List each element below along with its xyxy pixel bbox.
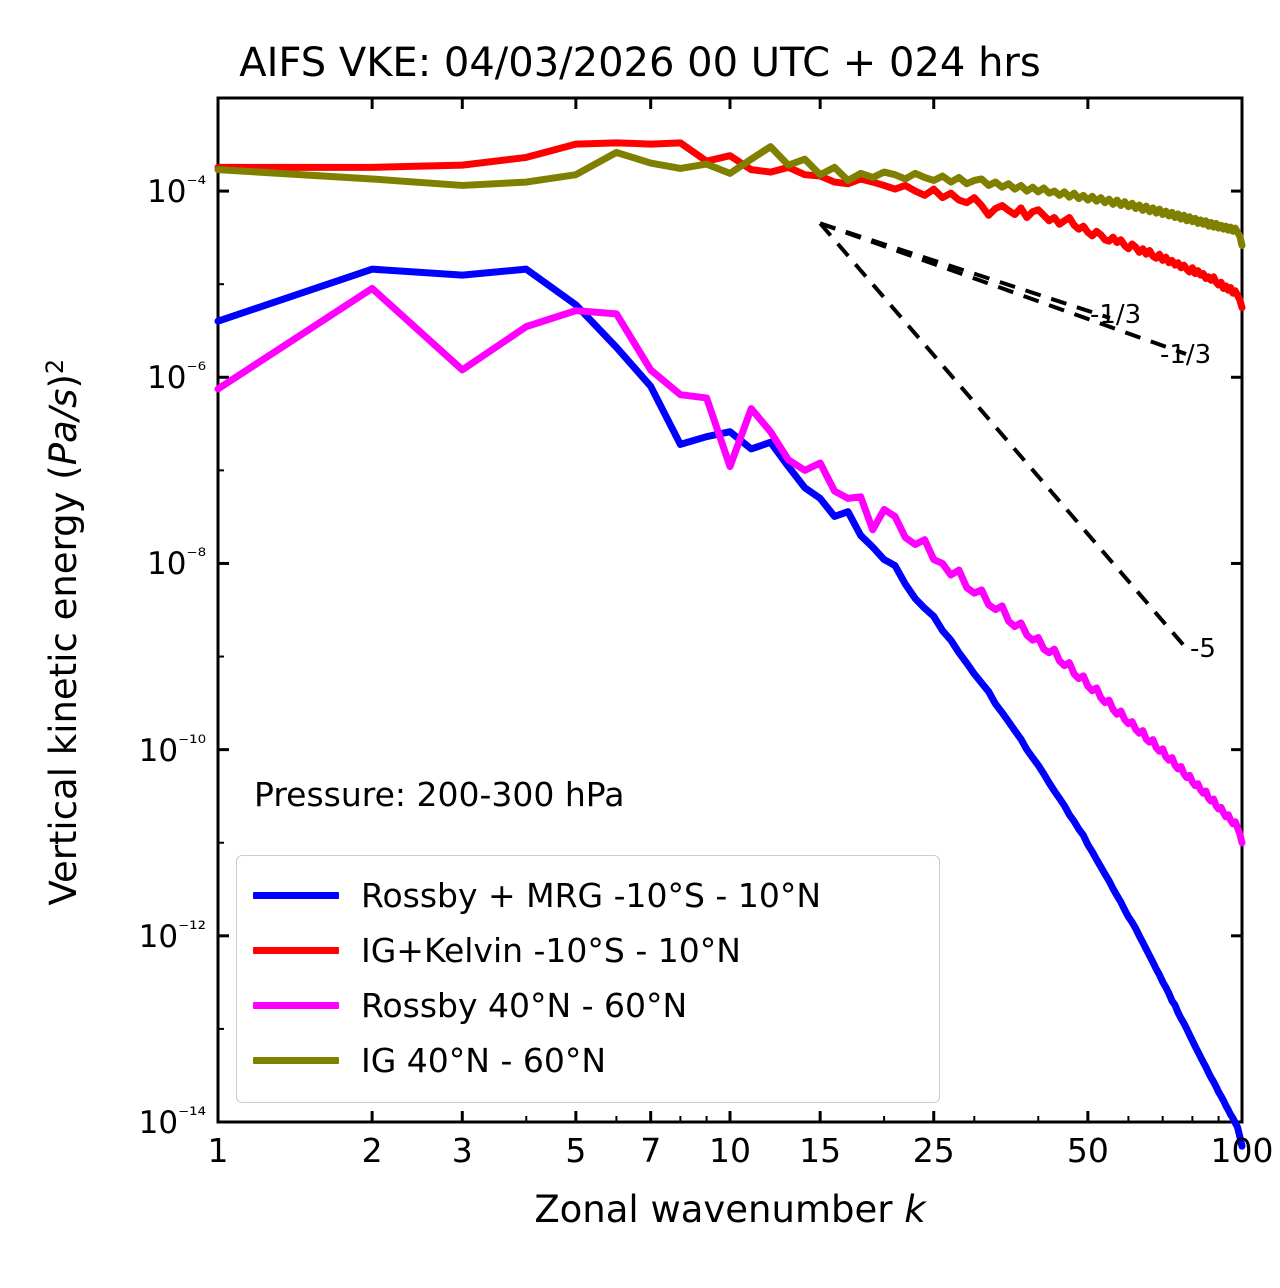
legend-item[interactable]: IG+Kelvin -10°S - 10°N (253, 923, 923, 978)
figure-root: AIFS VKE: 04/03/2026 00 UTC + 024 hrs Ve… (0, 0, 1280, 1288)
x-tick-label: 15 (799, 1131, 841, 1170)
slope-annotation-label: -1/3 (1160, 340, 1211, 370)
legend-item[interactable]: IG 40°N - 60°N (253, 1033, 923, 1088)
y-tick-label: 10⁻¹⁰ (139, 730, 206, 768)
x-tick-label: 100 (1211, 1131, 1274, 1170)
legend-item-label: Rossby 40°N - 60°N (361, 986, 687, 1025)
legend: Rossby + MRG -10°S - 10°N IG+Kelvin -10°… (236, 855, 940, 1103)
legend-item-label: IG+Kelvin -10°S - 10°N (361, 931, 741, 970)
y-tick-label: 10⁻¹⁴ (139, 1103, 206, 1141)
legend-item-label: Rossby + MRG -10°S - 10°N (361, 876, 821, 915)
x-tick-label: 1 (208, 1131, 229, 1170)
legend-color-swatch (253, 892, 339, 899)
slope-annotation-label: -5 (1190, 634, 1216, 664)
y-tick-label: 10⁻⁶ (147, 358, 206, 396)
x-tick-label: 2 (362, 1131, 383, 1170)
legend-item-label: IG 40°N - 60°N (361, 1041, 606, 1080)
x-tick-label: 10 (709, 1131, 751, 1170)
x-tick-label: 3 (452, 1131, 473, 1170)
legend-color-swatch (253, 1002, 339, 1009)
x-tick-label: 5 (565, 1131, 586, 1170)
legend-item[interactable]: Rossby 40°N - 60°N (253, 978, 923, 1033)
legend-color-swatch (253, 947, 339, 954)
y-tick-label: 10⁻⁸ (147, 544, 206, 582)
legend-color-swatch (253, 1057, 339, 1064)
slope-annotation-label: -1/3 (1090, 300, 1141, 330)
x-tick-label: 25 (913, 1131, 955, 1170)
x-tick-label: 7 (640, 1131, 661, 1170)
y-tick-label: 10⁻⁴ (147, 172, 206, 210)
x-tick-label: 50 (1067, 1131, 1109, 1170)
y-tick-label: 10⁻¹² (139, 917, 206, 955)
pressure-annotation: Pressure: 200-300 hPa (254, 775, 624, 814)
legend-item[interactable]: Rossby + MRG -10°S - 10°N (253, 868, 923, 923)
